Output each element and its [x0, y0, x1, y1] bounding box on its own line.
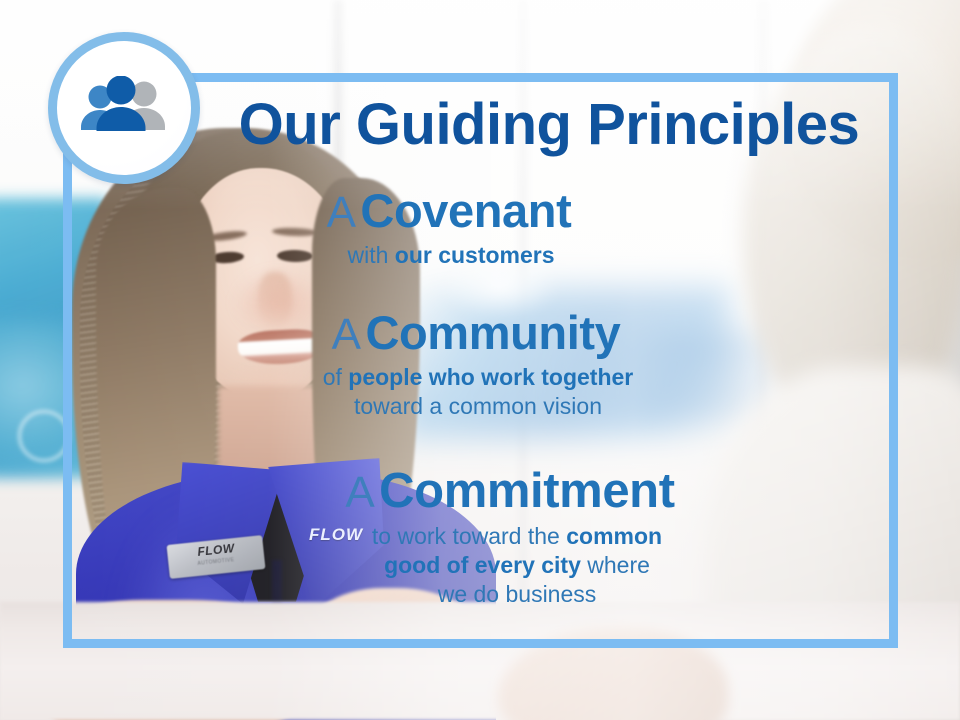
principle-word: Commitment [379, 464, 674, 518]
principle-community: A Community of people who work togethert… [80, 308, 880, 422]
principle-subtitle: with our customers [80, 241, 880, 270]
principle-covenant: A Covenant with our customers [80, 186, 880, 270]
subtitle-text: toward a common vision [354, 393, 602, 419]
principle-title: A Community [80, 308, 880, 359]
subtitle-line: of people who work together [80, 363, 876, 392]
subtitle-text: of [323, 364, 349, 390]
subtitle-text: with [347, 242, 394, 268]
principles-list: A Covenant with our customers A Communit… [80, 182, 880, 614]
people-badge [48, 32, 200, 184]
principle-word: Community [365, 306, 620, 359]
principle-article: A [327, 188, 356, 237]
subtitle-line: with our customers [80, 241, 822, 270]
subtitle-line: toward a common vision [80, 392, 876, 421]
principle-subtitle: of people who work togethertoward a comm… [80, 363, 880, 422]
subtitle-text: we do business [438, 581, 597, 607]
subtitle-text: to work toward the [372, 523, 566, 549]
principle-commitment: A Commitment to work toward the commongo… [80, 466, 880, 610]
principle-title: A Covenant [80, 186, 880, 237]
page-title: Our Guiding Principles [216, 96, 882, 154]
subtitle-emphasis: our customers [395, 242, 555, 268]
principle-subtitle: to work toward the commongood of every c… [80, 522, 880, 610]
people-group-icon [76, 76, 172, 140]
subtitle-text: where [581, 552, 650, 578]
subtitle-emphasis: good of every city [384, 552, 581, 578]
guiding-principles-banner: FLOW FLOW AUTOMOTIVE Our Guiding Princip [0, 0, 960, 720]
principle-article: A [345, 468, 374, 517]
principle-title: A Commitment [80, 466, 880, 518]
principle-article: A [332, 310, 361, 359]
subtitle-emphasis: common [566, 523, 662, 549]
subtitle-line: we do business [154, 580, 880, 609]
subtitle-line: to work toward the common [154, 522, 880, 551]
subtitle-emphasis: people who work together [348, 364, 633, 390]
subtitle-line: good of every city where [154, 551, 880, 580]
principle-word: Covenant [360, 184, 571, 237]
